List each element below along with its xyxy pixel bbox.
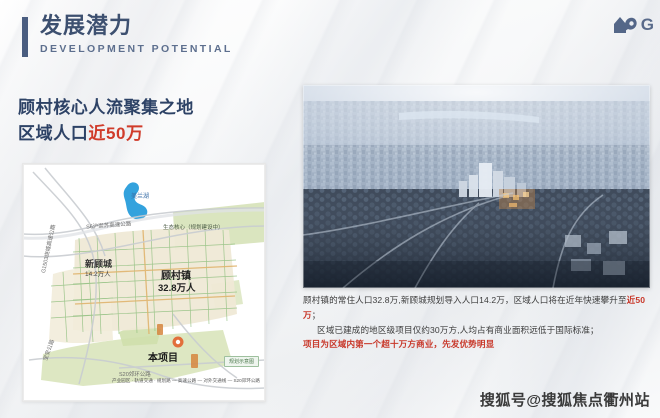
district-map-panel[interactable]: 美兰湖 生态核心（规划建设中） S6沪崇苏高速公路 S20郊环公路 G1503绕… [22,163,266,402]
header-text-group: 发展潜力 DEVELOPMENT POTENTIAL [40,14,233,55]
map-label-green-core: 生态核心（规划建设中） [163,223,224,231]
copy-paragraph-1: 顾村镇的常住人口32.8万,新顾城规划导入人口14.2万，区域人口将在近年快速攀… [303,293,653,323]
slide-header: 发展潜力 DEVELOPMENT POTENTIAL [22,14,233,57]
slide-root: 发展潜力 DEVELOPMENT POTENTIAL G 顾村核心人流聚集之地 … [0,0,660,418]
brand-letter: G [641,15,654,35]
map-legend: 产业园区 · 轨道交通 · 规划路 — 高速公路 — 对外交通线 — S20郊环… [112,378,260,385]
map-label-new-gucheng-population: 14.2万人 [85,268,111,278]
copy-paragraph-1-part-b: ； [312,310,321,320]
page-title: 发展潜力 [40,14,233,39]
headline-line-2: 区域人口近50万 [18,121,194,147]
map-label-lake: 美兰湖 [131,191,149,200]
copy-paragraph-2: 区域已建成的地区级项目仅约30万方,人均占有商业面积远低于国际标准； [303,323,653,338]
project-marker [173,337,184,348]
copy-paragraph-3: 项目为区域内第一个超十万方商业，先发优势明显 [303,337,653,352]
brand-logo: G [612,14,654,36]
page-subtitle: DEVELOPMENT POTENTIAL [40,43,233,55]
headline-line-2-accent: 近50万 [88,124,143,143]
aerial-city-rendering[interactable] [303,85,650,288]
map-badge: 规划示意图 [224,356,259,367]
map-label-this-project: 本项目 [148,349,178,364]
copy-paragraph-1-part-a: 顾村镇的常住人口32.8万,新顾城规划导入人口14.2万，区域人口将在近年快速攀… [303,295,627,305]
body-copy: 顾村镇的常住人口32.8万,新顾城规划导入人口14.2万，区域人口将在近年快速攀… [303,293,653,352]
headline-line-2-prefix: 区域人口 [18,124,88,143]
map-label-road-south: S20郊环公路 [119,370,151,378]
watermark: 搜狐号@搜狐焦点衢州站 [480,389,650,410]
map-label-gucun-town-population: 32.8万人 [158,280,196,294]
headline-line-1: 顾村核心人流聚集之地 [18,95,194,121]
header-accent-bar [22,17,28,57]
headline-group: 顾村核心人流聚集之地 区域人口近50万 [18,95,194,148]
aerial-city-rendering-graphic [303,85,650,288]
house-logo-icon [612,14,638,36]
